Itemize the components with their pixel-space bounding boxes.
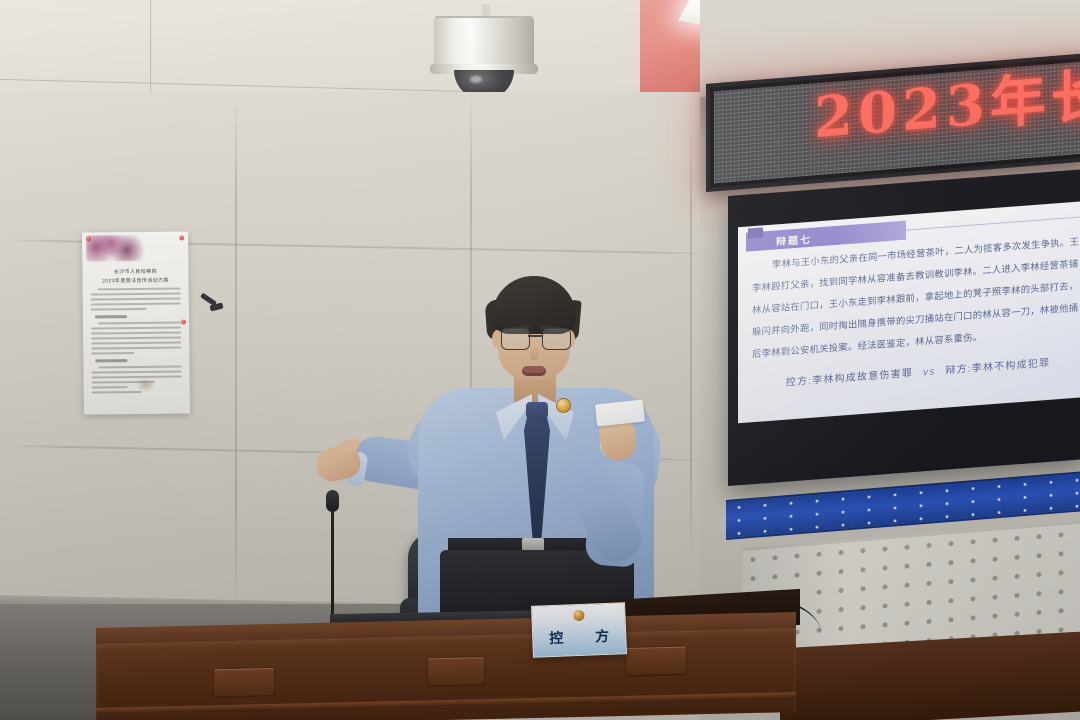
nameplate-text: 控 方: [533, 625, 626, 649]
podium-panel: [626, 647, 686, 676]
podium-panel: [214, 668, 274, 697]
dome-camera-icon: [430, 16, 538, 84]
slide-header-tab: [748, 227, 763, 238]
tie-knot: [526, 402, 548, 420]
slide-header-text: 辩题七: [776, 231, 812, 249]
mouth: [522, 366, 546, 376]
poster-title-line1: 长沙市人民检察院: [82, 267, 188, 276]
projection-screen: 辩题七 李林与王小东的父亲在同一市场经营茶叶，二人为揽客多次发生争执。王 李林殴…: [728, 169, 1080, 486]
camera-glint: [470, 76, 482, 83]
courtroom-scene: 长沙市人民检察院 2023年度普法宣传活动方案 2023年长 辩题七: [0, 0, 1080, 720]
camera-housing: [434, 16, 534, 70]
slide-surface: 辩题七 李林与王小东的父亲在同一市场经营茶叶，二人为揽客多次发生争执。王 李林殴…: [738, 200, 1080, 423]
wall-seam: [235, 92, 237, 612]
vs-label: vs: [923, 366, 935, 378]
wall-bracket-icon: [200, 295, 226, 317]
plum-blossom-graphic: [86, 235, 144, 262]
mic-capsule: [326, 490, 339, 512]
right-lens: [542, 328, 571, 350]
poster-pin: [86, 236, 91, 241]
left-eye: [509, 284, 518, 288]
ceiling-seam: [150, 0, 151, 92]
wall-poster: 长沙市人民检察院 2023年度普法宣传活动方案: [82, 231, 190, 414]
slide-body: 李林与王小东的父亲在同一市场经营茶叶，二人为揽客多次发生争执。王 李林殴打父亲，…: [752, 235, 1080, 370]
podium-panel: [428, 657, 484, 686]
poster-pin: [179, 235, 184, 240]
slide-divider: [906, 216, 1080, 231]
hair: [492, 276, 576, 334]
poster-title-line2: 2023年度普法宣传活动方案: [83, 276, 189, 285]
glasses-bridge: [528, 335, 542, 337]
nose: [530, 346, 538, 360]
poster-pin: [181, 319, 186, 324]
defense-label: 辩方:李林不构成犯罪: [945, 358, 1050, 377]
slide-header-bar: 辩题七: [746, 221, 906, 252]
left-lens: [501, 328, 530, 350]
right-eye: [550, 284, 559, 288]
podium-right-section: [780, 632, 1080, 720]
desk-nameplate: 控 方: [531, 602, 627, 658]
poster-stamp: [136, 378, 156, 392]
prosecution-label: 控方:李林构成故意伤害罪: [786, 368, 913, 389]
national-emblem-icon: [573, 610, 584, 621]
lapel-badge-icon: [556, 398, 571, 413]
